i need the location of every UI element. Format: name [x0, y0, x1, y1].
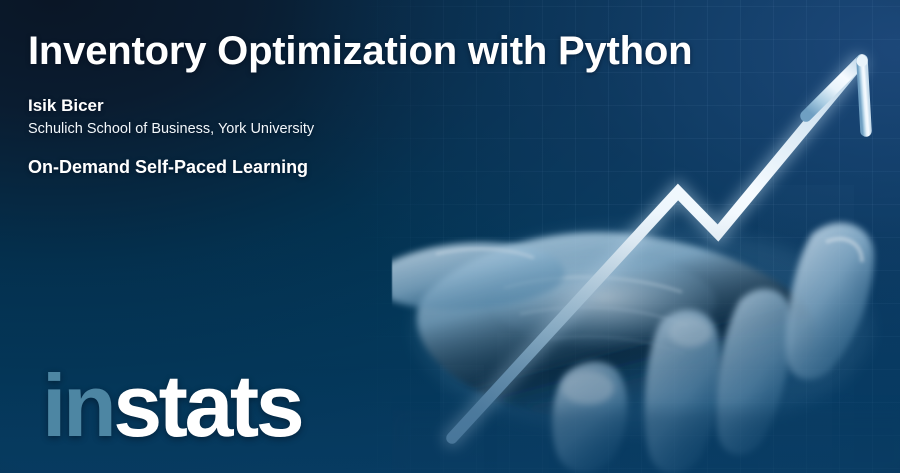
course-format-label: On-Demand Self-Paced Learning: [28, 157, 308, 178]
page-title: Inventory Optimization with Python: [28, 29, 692, 74]
title-slide: Inventory Optimization with Python Isik …: [0, 0, 900, 473]
instats-logo: instats: [42, 362, 301, 450]
author-name: Isik Bicer: [28, 96, 104, 116]
logo-part-in: in: [42, 356, 113, 455]
logo-part-stats: stats: [113, 356, 301, 455]
author-affiliation: Schulich School of Business, York Univer…: [28, 121, 314, 137]
